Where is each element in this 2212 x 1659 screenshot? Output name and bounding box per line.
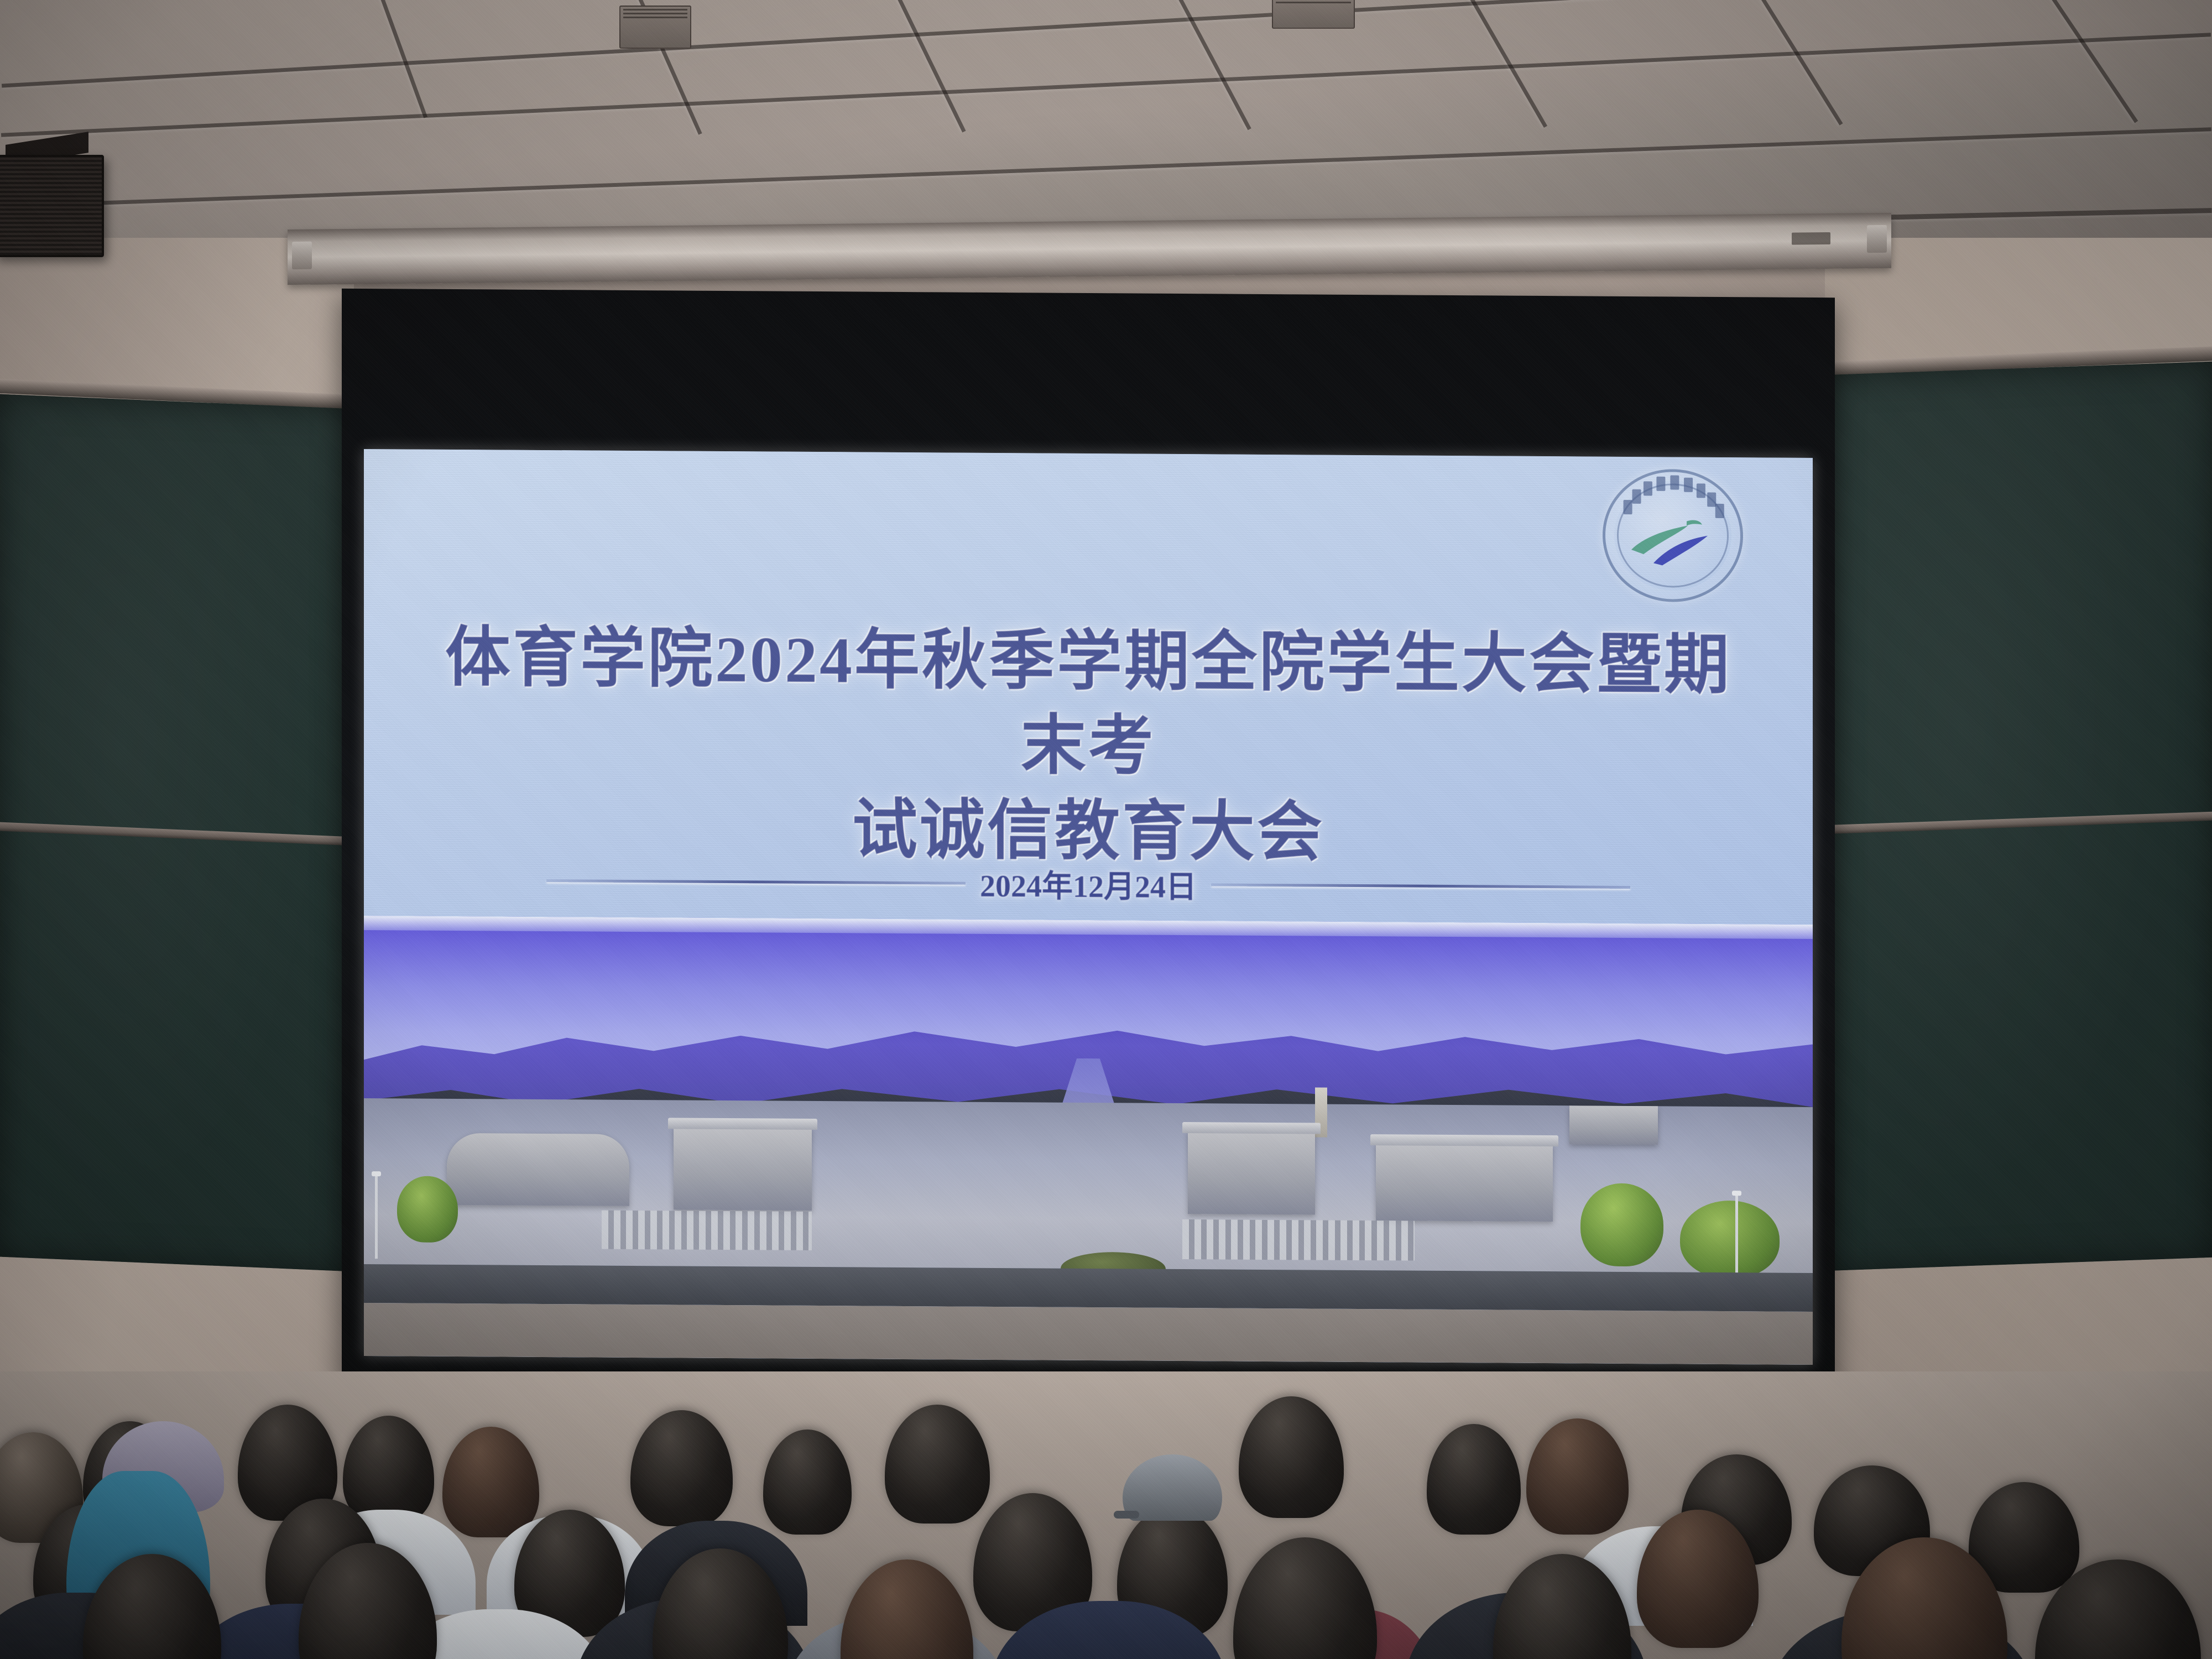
ceiling-grid-line xyxy=(1,127,2211,208)
campus-panorama-photo xyxy=(364,916,1813,1312)
projection-screen[interactable]: 体育学院2024年秋季学期全院学生大会暨期末考 试诚信教育大会 2024年12月… xyxy=(342,289,1835,1392)
ceiling-grid-line xyxy=(792,0,966,133)
photo-building xyxy=(447,1133,629,1206)
photo-tree xyxy=(1580,1183,1663,1266)
date-rule-left xyxy=(546,879,966,885)
ceiling-grid-line xyxy=(1943,0,2138,123)
roller-brand-label xyxy=(1792,232,1830,245)
photo-building xyxy=(1569,1105,1658,1145)
lecture-hall-photo: 体育学院2024年秋季学期全院学生大会暨期末考 试诚信教育大会 2024年12月… xyxy=(0,0,2212,1659)
photo-building xyxy=(1188,1131,1315,1214)
photo-tree xyxy=(1680,1201,1780,1279)
slide-surface[interactable]: 体育学院2024年秋季学期全院学生大会暨期末考 试诚信教育大会 2024年12月… xyxy=(364,449,1813,1365)
slide-letterbox-bottom xyxy=(364,1303,1813,1365)
ceiling-vent xyxy=(1272,0,1355,29)
photo-building xyxy=(1376,1143,1553,1222)
photo-colonnade xyxy=(1182,1219,1415,1261)
slide-title-line-1: 体育学院2024年秋季学期全院学生大会暨期末考 xyxy=(364,615,1813,794)
crest-swoosh-mark xyxy=(1621,509,1725,570)
wall-speaker xyxy=(0,155,104,257)
roller-end-cap xyxy=(292,242,312,269)
photo-lamp-post xyxy=(375,1176,378,1259)
audience-seating xyxy=(0,1371,2212,1659)
ceiling-grid-line xyxy=(1,33,2211,137)
slide-date-row: 2024年12月24日 xyxy=(364,857,1813,911)
university-crest-logo xyxy=(1603,469,1743,603)
slide-date: 2024年12月24日 xyxy=(966,861,1211,907)
date-rule-right xyxy=(1211,883,1630,889)
photo-colonnade xyxy=(602,1211,812,1250)
ceiling-grid-line xyxy=(1652,0,1843,126)
ceiling-vent xyxy=(619,6,691,49)
photo-lamp-post xyxy=(1735,1195,1738,1278)
ceiling-grid-line xyxy=(2,0,2210,88)
photo-building xyxy=(674,1126,812,1211)
ceiling-grid-line xyxy=(291,0,427,118)
photo-tree xyxy=(397,1176,458,1243)
slide-title-block: 体育学院2024年秋季学期全院学生大会暨期末考 试诚信教育大会 xyxy=(364,615,1813,878)
roller-end-cap xyxy=(1867,225,1887,253)
